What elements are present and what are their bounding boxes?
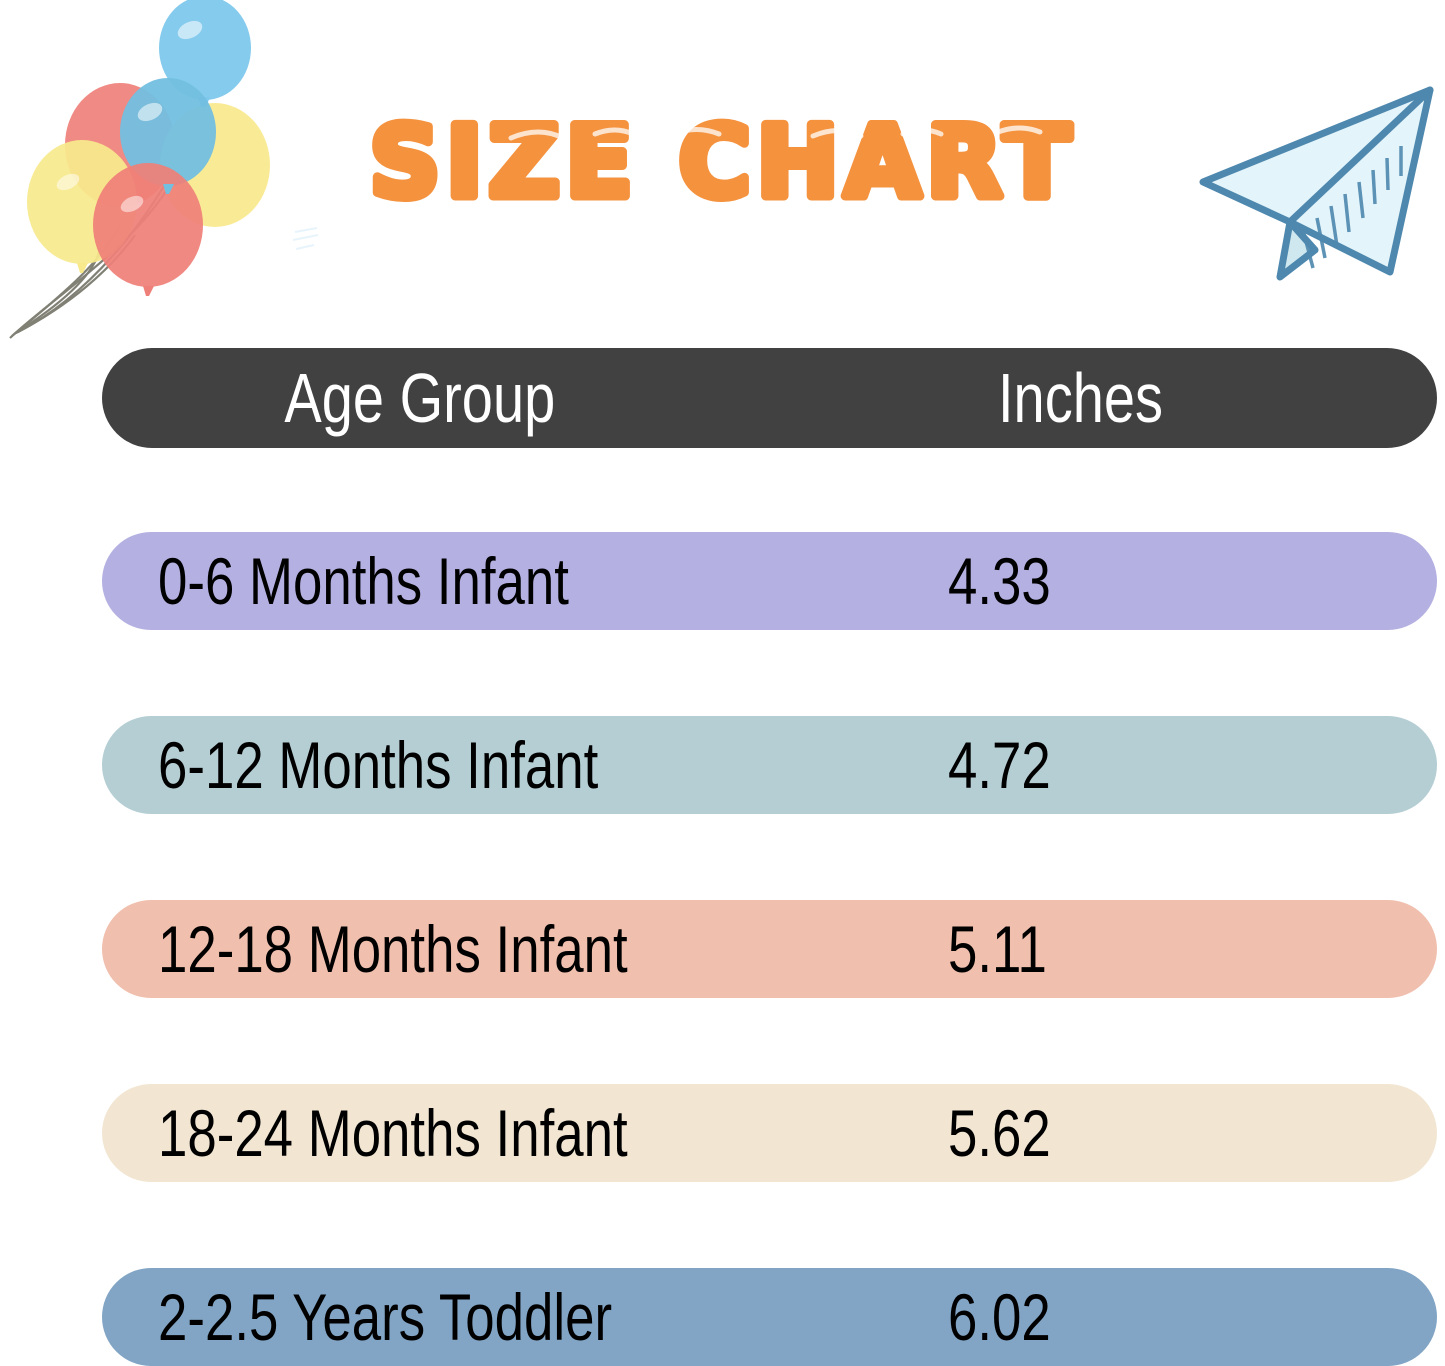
column-header-age-group: Age Group: [158, 363, 958, 433]
table-row: 6-12 Months Infant 4.72: [102, 716, 1437, 814]
inches-cell: 4.33: [948, 548, 1188, 614]
age-group-cell: 6-12 Months Infant: [158, 732, 958, 798]
table-row: 2-2.5 Years Toddler 6.02: [102, 1268, 1437, 1366]
inches-cell: 5.62: [948, 1100, 1188, 1166]
table-header-row: Age Group Inches: [102, 348, 1437, 448]
size-chart-table: Age Group Inches 0-6 Months Infant 4.33 …: [102, 348, 1437, 1366]
balloons-illustration: [0, 0, 340, 345]
column-header-inches: Inches: [958, 363, 1198, 433]
age-group-cell: 0-6 Months Infant: [158, 548, 958, 614]
inches-cell: 4.72: [948, 732, 1188, 798]
inches-cell: 6.02: [948, 1284, 1188, 1350]
age-group-cell: 12-18 Months Infant: [158, 916, 958, 982]
inches-cell: 5.11: [948, 916, 1188, 982]
table-row: 0-6 Months Infant 4.33: [102, 532, 1437, 630]
title-artwork: SIZE CHART: [343, 96, 1103, 226]
paper-airplane-icon: [1185, 72, 1445, 302]
page-title: SIZE CHART: [0, 96, 1445, 231]
age-group-cell: 18-24 Months Infant: [158, 1100, 958, 1166]
table-row: 12-18 Months Infant 5.11: [102, 900, 1437, 998]
age-group-cell: 2-2.5 Years Toddler: [158, 1284, 958, 1350]
page-title-text: SIZE CHART: [369, 106, 1076, 220]
table-row: 18-24 Months Infant 5.62: [102, 1084, 1437, 1182]
